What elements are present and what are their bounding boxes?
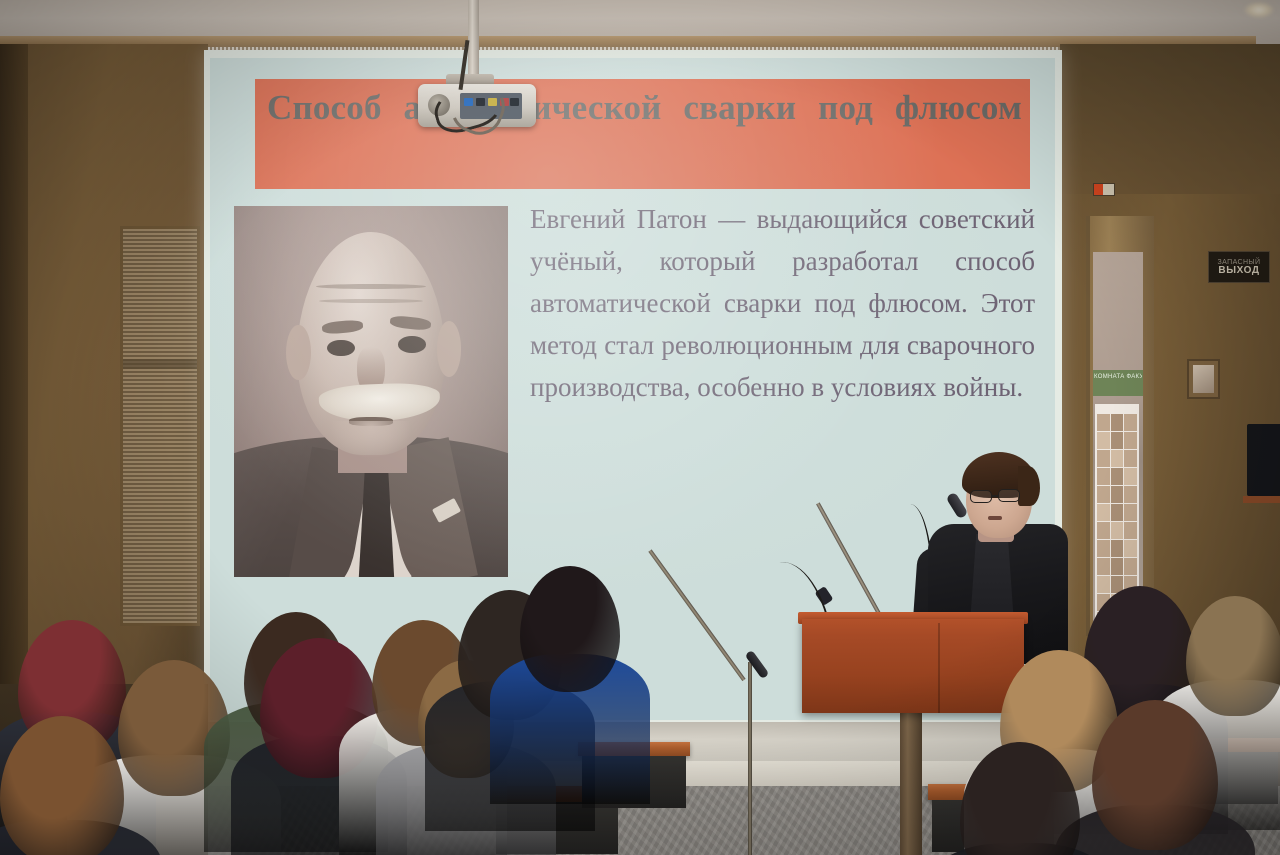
portrait-forehead-line-1 xyxy=(316,284,426,289)
glasses-lens-left xyxy=(970,490,992,503)
glasses-bridge xyxy=(992,495,999,497)
lecture-hall-scene: КОМНАТА ФАКУЛЬТЕТА ЗАПАСНЫЙ ВЫХОД Способ… xyxy=(0,0,1280,855)
exit-sign-line-2: ВЫХОД xyxy=(1218,266,1259,276)
wall-right-upper xyxy=(1060,44,1280,194)
speaker-mouth xyxy=(988,516,1002,520)
wooden-podium xyxy=(802,619,1024,713)
emergency-exit-sign: ЗАПАСНЫЙ ВЫХОД xyxy=(1208,251,1270,283)
fire-alarm-icon xyxy=(1093,183,1115,196)
glasses-lens-right xyxy=(998,489,1020,502)
audience-member xyxy=(520,566,680,855)
portrait-ear-right xyxy=(437,321,462,377)
audience-member xyxy=(0,716,200,855)
portrait-eye-left xyxy=(327,340,354,357)
speaker-hair-side xyxy=(1018,466,1040,506)
slide-title: Способ автоматической сварки под флюсом xyxy=(255,79,1030,189)
slide-portrait-photo xyxy=(234,206,508,577)
audience-head xyxy=(1186,596,1280,716)
portrait-illustration xyxy=(234,206,508,577)
wall-picture-frame xyxy=(1187,359,1220,399)
audience-head xyxy=(0,716,124,855)
audience-head xyxy=(520,566,620,692)
podium-panel-seam xyxy=(938,623,940,713)
microphone-stand-left[interactable] xyxy=(748,662,752,855)
monitor-shelf xyxy=(1243,496,1280,503)
audience-head xyxy=(960,742,1080,855)
podium-post xyxy=(900,711,922,855)
slide-title-banner: Способ автоматической сварки под флюсом xyxy=(255,79,1030,189)
window-blinds xyxy=(120,226,200,626)
portrait-chin xyxy=(330,421,412,458)
slide-body-text: Евгений Патон — выдающийся советский учё… xyxy=(530,198,1035,408)
ceiling-light xyxy=(1244,2,1274,18)
portrait-eye-right xyxy=(398,336,425,353)
portrait-ear-left xyxy=(286,325,311,381)
wall-left-shadow xyxy=(0,44,28,684)
notice-board-label: КОМНАТА ФАКУЛЬТЕТА xyxy=(1094,372,1142,382)
audience-member xyxy=(960,742,1150,855)
wall-monitor xyxy=(1247,424,1280,496)
